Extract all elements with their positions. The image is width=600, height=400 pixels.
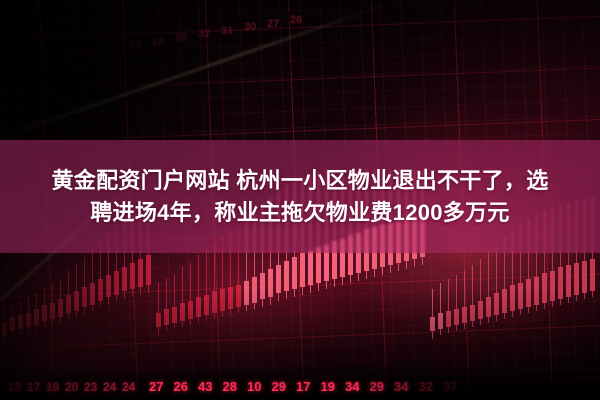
x-axis-tick-label: 10 xyxy=(247,379,261,394)
x-axis-tick-label: 43 xyxy=(198,379,212,394)
x-axis-tick-label: 24 xyxy=(103,380,116,394)
headline-title: 黄金配资门户网站 杭州一小区物业退出不干了，选聘进场4年，称业主拖欠物业费120… xyxy=(0,165,600,228)
headline-line-1: 黄金配资门户网站 杭州一小区物业退出不干了，选 xyxy=(6,165,594,197)
headline-line-2: 聘进场4年，称业主拖欠物业费1200多万元 xyxy=(6,197,594,229)
x-axis-tick-label: 34 xyxy=(345,379,359,394)
x-axis-tick-label: 20 xyxy=(65,380,78,394)
x-axis-tick-label: 18 xyxy=(46,380,59,394)
chart-x-axis-labels: 1817182023242427264328102917193429343237 xyxy=(0,374,600,394)
x-axis-tick-label: 24 xyxy=(122,380,135,394)
x-axis-tick-label: 17 xyxy=(296,379,310,394)
x-axis-tick-label: 34 xyxy=(394,379,408,394)
x-axis-tick-label: 17 xyxy=(27,380,40,394)
x-axis-tick-label: 28 xyxy=(223,379,237,394)
x-axis-tick-label: 32 xyxy=(419,379,433,394)
x-axis-tick-label: 37 xyxy=(443,379,457,394)
x-axis-tick-label: 27 xyxy=(149,379,163,394)
x-axis-tick-label: 18 xyxy=(8,380,21,394)
x-axis-tick-label: 23 xyxy=(84,380,97,394)
x-axis-tick-label: 29 xyxy=(370,379,384,394)
x-axis-tick-label: 26 xyxy=(174,379,188,394)
x-axis-tick-label: 19 xyxy=(321,379,335,394)
x-axis-tick-label: 29 xyxy=(272,379,286,394)
news-thumbnail: 1819222528303231302726 18171820232424272… xyxy=(0,0,600,400)
headline-overlay-band: 黄金配资门户网站 杭州一小区物业退出不干了，选聘进场4年，称业主拖欠物业费120… xyxy=(0,140,600,253)
